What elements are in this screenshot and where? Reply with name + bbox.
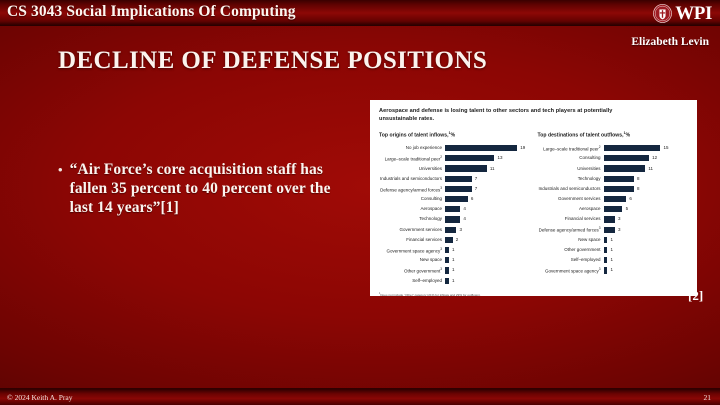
bar-value-label: 3 (615, 227, 621, 233)
bar-track: 1 (445, 278, 530, 284)
bar (445, 155, 494, 161)
bar-category-label: Defense agency/armed forces3 (379, 185, 445, 194)
bullet-marker-icon: • (58, 160, 63, 217)
bar-value-label: 8 (634, 176, 640, 182)
bar-value-label: 8 (634, 186, 640, 192)
chart-bar-row: New space1 (538, 236, 689, 245)
bullet-list: • “Air Force’s core acquisition staff ha… (58, 160, 358, 217)
bar-track: 1 (604, 247, 689, 253)
bar-value-label: 1 (607, 247, 613, 253)
bar (445, 165, 487, 171)
chart-bar-row: Technology8 (538, 174, 689, 183)
bar (445, 237, 453, 243)
bar-category-label: Defense agency/armed forces3 (538, 225, 604, 234)
bar-value-label: 7 (472, 176, 478, 182)
bar-value-label: 5 (622, 206, 628, 212)
chart-bar-row: Aerospace4 (379, 205, 530, 214)
bar (445, 186, 472, 192)
bar-track: 6 (604, 196, 689, 202)
bar-category-label: Self–employed (538, 257, 604, 263)
bar-category-label: Other government3 (379, 266, 445, 275)
wpi-seal-icon (653, 4, 672, 23)
bar-value-label: 3 (615, 216, 621, 222)
bar-value-label: 12 (649, 155, 657, 161)
chart-bar-row: Government space agency31 (379, 246, 530, 255)
chart-bar-row: Consulting12 (538, 154, 689, 163)
presentation-slide: CS 3043 Social Implications Of Computing… (0, 0, 720, 405)
bar-value-label: 1 (449, 267, 455, 273)
bar-track: 4 (445, 216, 530, 222)
bar-category-label: Government space agency3 (379, 246, 445, 255)
chart-bar-row: Government services3 (379, 225, 530, 234)
chart-bar-row: Defense agency/armed forces33 (538, 225, 689, 234)
wpi-wordmark: WPI (675, 4, 712, 23)
bar (445, 227, 456, 233)
chart-bar-row: No job experience19 (379, 144, 530, 153)
bar-track: 19 (445, 145, 530, 151)
bar-category-label: No job experience (379, 145, 445, 151)
bar (604, 145, 661, 151)
bar-track: 3 (604, 216, 689, 222)
chart-bar-row: Other government31 (379, 266, 530, 275)
chart-bar-row: Government services6 (538, 195, 689, 204)
bar-track: 8 (604, 176, 689, 182)
bar-track: 8 (604, 186, 689, 192)
bar-track: 1 (604, 237, 689, 243)
bar (604, 196, 627, 202)
slide-footer-bar: © 2024 Keith A. Pray 21 (0, 388, 720, 405)
chart-bar-row: Self–employed1 (538, 256, 689, 265)
bar-category-label: Financial services (538, 216, 604, 222)
bar-track: 6 (445, 196, 530, 202)
bar-value-label: 15 (660, 145, 668, 151)
bar-track: 4 (445, 206, 530, 212)
bar (445, 176, 472, 182)
bar-category-label: Other government (538, 247, 604, 253)
bar-value-label: 3 (456, 227, 462, 233)
bullet-item-quote: “Air Force’s core acquisition staff has … (70, 160, 358, 217)
bar (604, 227, 615, 233)
author-name: Elizabeth Levin (631, 36, 709, 48)
bar-track: 11 (604, 165, 689, 171)
bar-category-label: Large–scale traditional peer2 (379, 154, 445, 163)
bar-value-label: 1 (607, 267, 613, 273)
bar-category-label: Government services (538, 196, 604, 202)
chart-bar-row: Financial services2 (379, 236, 530, 245)
chart-bar-row: Universities11 (379, 164, 530, 173)
bar-category-label: Government services (379, 227, 445, 233)
bar-category-label: Technology (379, 216, 445, 222)
chart-subtitle: Top origins of talent inflows,1% (379, 131, 530, 139)
bar-value-label: 11 (645, 166, 653, 172)
chart-headline: Aerospace and defense is losing talent t… (379, 108, 641, 123)
bar-track: 1 (445, 247, 530, 253)
bar (445, 216, 460, 222)
bar-category-label: New space (379, 257, 445, 263)
chart-figure: Aerospace and defense is losing talent t… (370, 100, 697, 296)
chart-bar-row: Industrials and semiconductors8 (538, 185, 689, 194)
bar (604, 176, 634, 182)
course-title: CS 3043 Social Implications Of Computing (7, 3, 296, 21)
bar-track: 1 (604, 267, 689, 273)
bar-track: 1 (604, 257, 689, 263)
bar-category-label: Aerospace (538, 206, 604, 212)
chart-bar-row: Industrials and semiconductors7 (379, 174, 530, 183)
bar-track: 3 (445, 227, 530, 233)
bar-value-label: 4 (460, 206, 466, 212)
chart-subtitle: Top destinations of talent outflows,1% (538, 131, 689, 139)
bar-category-label: Self–employed (379, 278, 445, 284)
chart-bar-row: Financial services3 (538, 215, 689, 224)
chart-bar-row: Technology4 (379, 215, 530, 224)
chart-footnotes: 1Does not include “Other” category (21% … (379, 292, 688, 297)
chart-bar-row: Self–employed1 (379, 276, 530, 285)
bar-track: 13 (445, 155, 530, 161)
chart-bar-row: Other government1 (538, 246, 689, 255)
chart-bar-row: Universities11 (538, 164, 689, 173)
bar-category-label: New space (538, 237, 604, 243)
bar-track: 11 (445, 165, 530, 171)
bar (445, 206, 460, 212)
bar-track: 3 (604, 227, 689, 233)
bar-category-label: Large–scale traditional peer2 (538, 144, 604, 153)
chart-panel-outflows: Top destinations of talent outflows,1%La… (538, 131, 689, 286)
bar-category-label: Industrials and semiconductors (538, 186, 604, 192)
bar-value-label: 6 (468, 196, 474, 202)
bar-category-label: Aerospace (379, 206, 445, 212)
bar-value-label: 13 (494, 155, 502, 161)
chart-bar-row: Government space agency31 (538, 266, 689, 275)
chart-bar-row: Defense agency/armed forces37 (379, 185, 530, 194)
bar-category-label: Universities (538, 166, 604, 172)
bar (604, 186, 634, 192)
bar-track: 7 (445, 186, 530, 192)
chart-bar-row: Large–scale traditional peer215 (538, 144, 689, 153)
bar-value-label: 2 (453, 237, 459, 243)
bar-value-label: 11 (487, 166, 495, 172)
bar-category-label: Consulting (538, 155, 604, 161)
bar-track: 1 (445, 267, 530, 273)
bar (445, 145, 517, 151)
footer-page-number: 21 (704, 393, 712, 402)
bar-value-label: 1 (449, 257, 455, 263)
bar-value-label: 4 (460, 216, 466, 222)
bar-value-label: 1 (449, 247, 455, 253)
chart-bar-row: Aerospace5 (538, 205, 689, 214)
bar-track: 5 (604, 206, 689, 212)
bar-category-label: Universities (379, 166, 445, 172)
bar (604, 206, 623, 212)
bar-value-label: 19 (517, 145, 525, 151)
chart-bar-row: Large–scale traditional peer213 (379, 154, 530, 163)
bar-value-label: 7 (472, 186, 478, 192)
bar-category-label: Government space agency3 (538, 266, 604, 275)
bar-value-label: 1 (449, 278, 455, 284)
bar (604, 165, 646, 171)
chart-panels-row: Top origins of talent inflows,1%No job e… (379, 131, 688, 286)
slide-header-bar: CS 3043 Social Implications Of Computing… (0, 0, 720, 26)
bar-track: 2 (445, 237, 530, 243)
bar-category-label: Financial services (379, 237, 445, 243)
bar-value-label: 6 (626, 196, 632, 202)
bar (604, 216, 615, 222)
bar-value-label: 1 (607, 237, 613, 243)
bar-value-label: 1 (607, 257, 613, 263)
chart-footnote: 1Does not include “Other” category (21% … (379, 292, 688, 297)
chart-panel-inflows: Top origins of talent inflows,1%No job e… (379, 131, 530, 286)
bar-category-label: Industrials and semiconductors (379, 176, 445, 182)
wpi-logo: WPI (653, 1, 712, 25)
footer-copyright: © 2024 Keith A. Pray (7, 393, 73, 402)
bar-category-label: Technology (538, 176, 604, 182)
bar-track: 12 (604, 155, 689, 161)
bar (604, 155, 649, 161)
bar-track: 1 (445, 257, 530, 263)
bar (445, 196, 468, 202)
bar-category-label: Consulting (379, 196, 445, 202)
bar-track: 7 (445, 176, 530, 182)
bar-track: 15 (604, 145, 689, 151)
slide-title: DECLINE OF DEFENSE POSITIONS (58, 47, 487, 75)
chart-bar-row: New space1 (379, 256, 530, 265)
chart-bar-row: Consulting6 (379, 195, 530, 204)
